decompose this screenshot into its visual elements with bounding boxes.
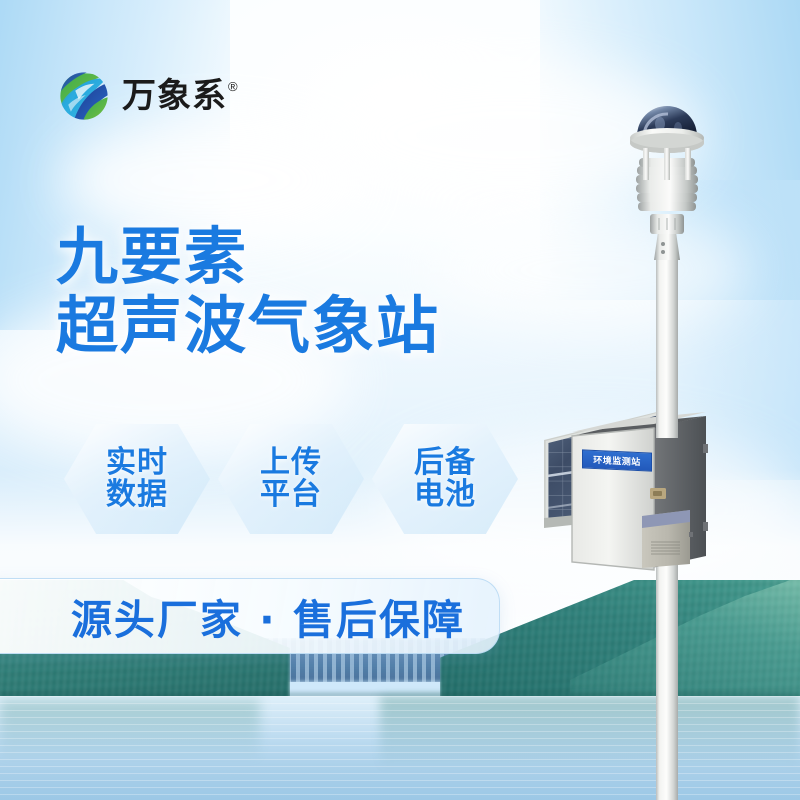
badge-line-1: 实时 xyxy=(106,447,168,479)
brand-wordmark: 万象系 ® xyxy=(122,79,238,113)
headline-line-1: 九要素 xyxy=(56,222,440,291)
ultrasonic-sensor-head xyxy=(520,10,770,180)
badge-label: 上传 平台 xyxy=(260,447,322,511)
feature-badge-backup-battery[interactable]: 后备 电池 xyxy=(372,424,518,534)
cabinet-label-text: 环境监测站 xyxy=(593,453,641,468)
cabinet-label: 环境监测站 xyxy=(582,449,652,471)
ultrasonic-weather-station: 环境监测站 xyxy=(520,140,770,800)
badge-line-1: 后备 xyxy=(414,447,476,479)
globe-swirl-logo-icon xyxy=(56,68,112,124)
page-title: 九要素 超声波气象站 xyxy=(56,222,440,361)
promo-banner: 环境监测站 xyxy=(0,0,800,800)
badge-line-2: 平台 xyxy=(260,479,322,511)
feature-badge-upload-platform[interactable]: 上传 平台 xyxy=(218,424,364,534)
badge-label: 后备 电池 xyxy=(414,447,476,511)
feature-badge-realtime-data[interactable]: 实时 数据 xyxy=(64,424,210,534)
feature-badges: 实时 数据 上传 平台 后备 电池 xyxy=(64,424,518,534)
guarantee-banner: 源头厂家 · 售后保障 xyxy=(0,578,500,654)
brand-name: 万象系 xyxy=(122,79,227,113)
badge-line-2: 数据 xyxy=(106,479,168,511)
brand-logo[interactable]: 万象系 ® xyxy=(56,68,238,124)
registered-mark: ® xyxy=(228,79,238,94)
badge-line-1: 上传 xyxy=(260,447,322,479)
headline-line-2: 超声波气象站 xyxy=(56,291,440,360)
badge-label: 实时 数据 xyxy=(106,447,168,511)
badge-line-2: 电池 xyxy=(414,479,476,511)
guarantee-text: 源头厂家 · 售后保障 xyxy=(71,586,465,646)
